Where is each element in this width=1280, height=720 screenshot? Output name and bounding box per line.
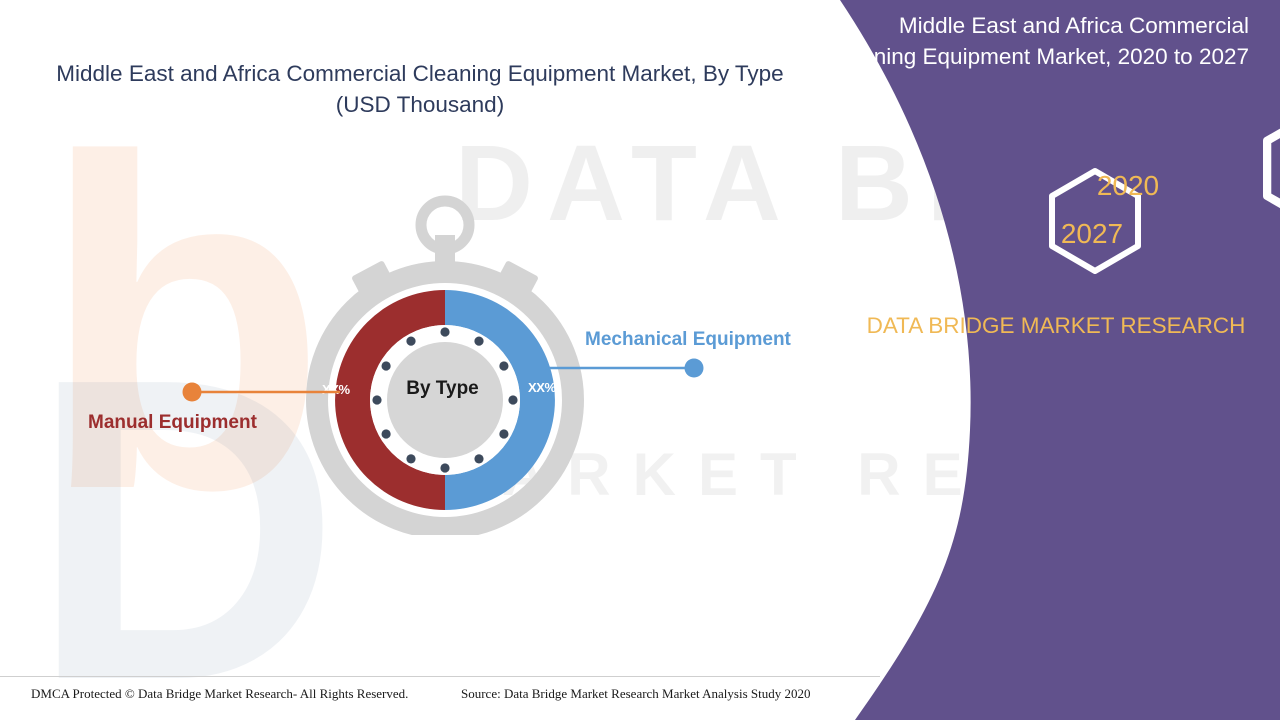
series-label-manual-equipment[interactable]: Manual Equipment	[88, 412, 257, 434]
infographic-canvas: b D DATA BRIDGE MARKET RESEARCH Middle E…	[0, 0, 1280, 720]
footer-source: Source: Data Bridge Market Research Mark…	[461, 686, 810, 702]
series-label-mechanical-equipment[interactable]: Mechanical Equipment	[585, 329, 791, 351]
footer-copyright: DMCA Protected © Data Bridge Market Rese…	[31, 686, 408, 702]
leader-dot-manual-icon	[183, 383, 202, 402]
brand-panel: 2020 2027 Middle East and Africa Commerc…	[820, 0, 1280, 720]
panel-brand-name: DATA BRIDGE MARKET RESEARCH	[820, 310, 1268, 342]
hexagon-badges: 2020 2027	[820, 0, 1280, 720]
panel-heading: Middle East and Africa Commercial Cleani…	[821, 10, 1261, 72]
hexagon-2020-outline-icon	[1267, 113, 1280, 223]
hexagon-2027-label: 2027	[1061, 218, 1123, 249]
leader-dot-mechanical-icon	[685, 359, 704, 378]
callout-leader-lines	[0, 0, 880, 720]
chart-region: Middle East and Africa Commercial Cleani…	[0, 0, 880, 720]
hexagon-2020-label: 2020	[1097, 170, 1159, 201]
footer-divider	[0, 676, 880, 677]
